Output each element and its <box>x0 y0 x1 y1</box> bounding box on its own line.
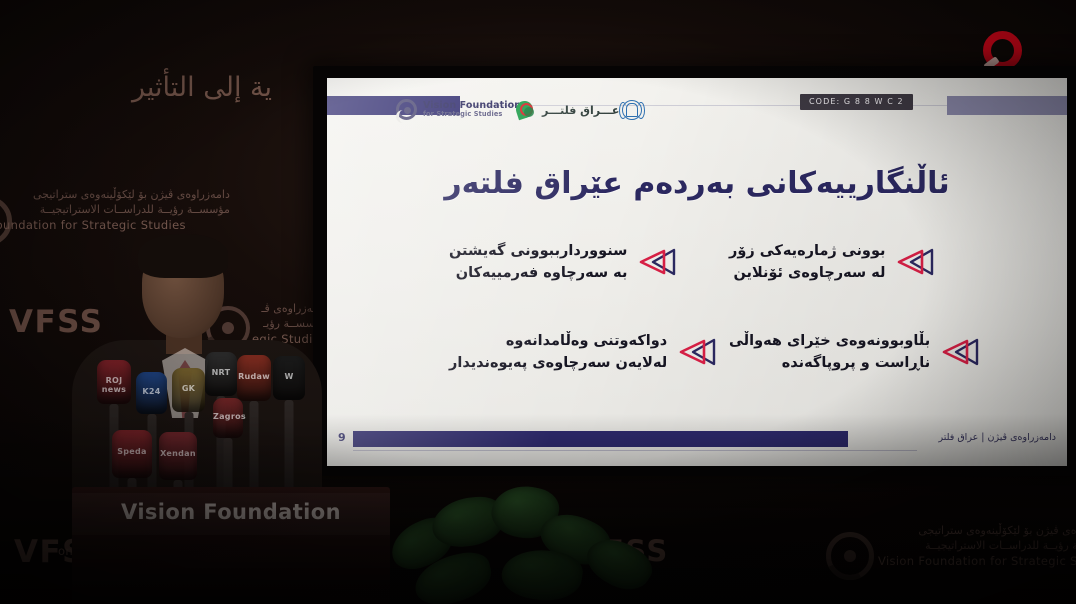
double-chevron-arrow-icon <box>939 338 979 366</box>
podium: Vision Foundation <box>72 487 390 604</box>
microphone: Zagros <box>213 398 243 438</box>
microphone-label: Xendan <box>159 449 197 458</box>
double-chevron-arrow-icon <box>894 248 934 276</box>
microphone: W <box>273 356 305 400</box>
speaker-hair <box>138 234 228 278</box>
microphone: ROJ news <box>97 360 131 404</box>
microphone: K24 <box>136 372 167 414</box>
slide-item-bottom-left: دواکەوتنی وەڵامدانەوە لەلایەن سەرچاوەی پ… <box>449 330 716 375</box>
channel-logo-icon <box>983 31 1022 70</box>
microphone-label: ROJ news <box>97 376 131 394</box>
slide-title: ئاڵنگارییەکانی بەردەم عێراق فلتەر <box>327 166 1067 201</box>
slide-item-top-right-text: بوونی ژمارەیەکی زۆر لە سەرچاوەی ئۆنلاین <box>729 240 885 285</box>
presentation-slide: CODE: G 8 8 W C 2 Vision Foundation for … <box>327 78 1067 466</box>
microphone-label: GK <box>172 384 205 393</box>
vf-logo-line2: for Strategic Studies <box>423 111 521 118</box>
iraq-filter-mark-icon <box>515 100 537 120</box>
microphone-label: K24 <box>136 387 167 396</box>
slide-vision-foundation-logo: Vision Foundation for Strategic Studies <box>396 99 521 120</box>
slide-footer-bar <box>353 431 848 447</box>
microphone-label: Zagros <box>213 412 243 421</box>
backdrop-arabic-header: ية إلى التأثير <box>132 72 272 103</box>
double-chevron-arrow-icon <box>636 248 676 276</box>
podium-label: Vision Foundation <box>72 500 390 524</box>
slide-item-bottom-right: بڵاوبوونەوەی خێرای هەواڵی ناڕاست و پروپا… <box>729 330 979 375</box>
vision-foundation-mark-icon <box>396 99 417 120</box>
slide-header-right-block <box>947 96 1067 115</box>
microphone: Xendan <box>159 432 197 480</box>
backdrop-left-arabic: مؤسســة رؤيــة للدراســات الاستراتيجيــة <box>14 203 230 218</box>
microphone: Speda <box>112 430 152 478</box>
microphone: NRT <box>205 352 237 396</box>
microphone-label: Rudaw <box>237 372 271 381</box>
slide-glare <box>327 78 1067 466</box>
slide-item-top-left-text: سنووردارببوونی گەیشتن بە سەرچاوە فەرمییە… <box>449 240 627 285</box>
slide-iraq-filter-logo: عـــراق فلتـــر <box>515 100 619 120</box>
backdrop-left-kurdish: دامەزراوەی ڤیژن بۆ لێکۆڵینەوەی ستراتیجی <box>14 188 230 203</box>
backdrop-left-english: on Foundation for Strategic Studies <box>0 218 186 234</box>
slide-code-badge: CODE: G 8 8 W C 2 <box>800 94 913 110</box>
backdrop-lr-english: Vision Foundation for Strategic Studies <box>878 554 1076 570</box>
microphone: Rudaw <box>237 355 271 401</box>
slide-item-top-left: سنووردارببوونی گەیشتن بە سەرچاوە فەرمییە… <box>449 240 676 285</box>
slide-footer: 9 دامەزراوەی ڤیژن | عراق فلتر <box>327 430 1067 448</box>
microphone-label: NRT <box>205 368 237 377</box>
slide-item-top-right: بوونی ژمارەیەکی زۆر لە سەرچاوەی ئۆنلاین <box>729 240 934 285</box>
screenshot-frame: ية إلى التأثير اوە بۆ دامەزراوەی ڤیژن بۆ… <box>0 0 1076 604</box>
slide-footer-right-text: دامەزراوەی ڤیژن | عراق فلتر <box>939 432 1057 443</box>
decorative-plant <box>380 480 700 604</box>
vfss-ring-icon-lr <box>826 532 874 580</box>
microphone: GK <box>172 368 205 412</box>
un-emblem-icon <box>620 98 644 122</box>
slide-item-bottom-right-text: بڵاوبوونەوەی خێرای هەواڵی ناڕاست و پروپا… <box>729 330 930 375</box>
backdrop-lr-kurdish: دامەزراوەی ڤیژن بۆ لێکۆڵینەوەی ستراتیجی <box>878 524 1076 539</box>
iraq-filter-label: عـــراق فلتـــر <box>542 104 619 117</box>
backdrop-lr-arabic: مؤسســة رؤيــة للدراســات الاستراتيجيــة <box>878 539 1076 554</box>
slide-footer-rule <box>353 450 917 451</box>
double-chevron-arrow-icon <box>676 338 716 366</box>
slide-item-bottom-left-text: دواکەوتنی وەڵامدانەوە لەلایەن سەرچاوەی پ… <box>449 330 667 375</box>
microphone-label: Speda <box>112 447 152 456</box>
microphone-label: W <box>273 372 305 381</box>
